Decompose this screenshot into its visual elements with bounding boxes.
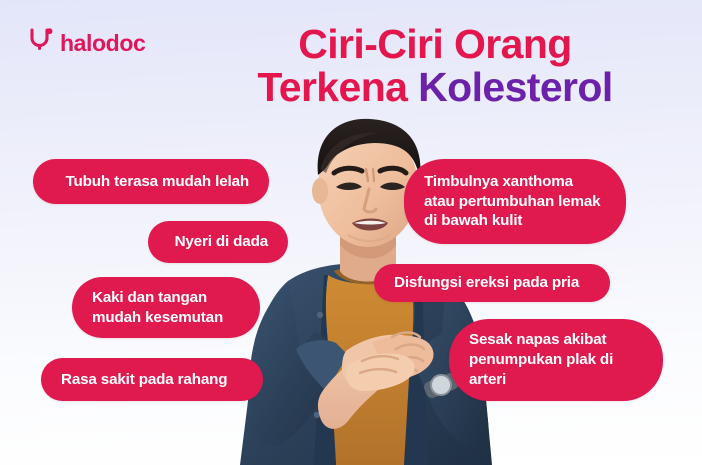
title-line-2-part-2: Kolesterol — [418, 64, 613, 110]
symptom-pill-kaki-dan-tangan-mudah-kesemutan: Kaki dan tangan mudah kesemutan — [72, 277, 260, 338]
infographic-canvas: halodoc Ciri-Ciri Orang Terkena Kolester… — [0, 0, 702, 465]
halodoc-logo: halodoc — [28, 26, 145, 60]
symptom-pill-disfungsi-ereksi-pada-pria: Disfungsi ereksi pada pria — [374, 264, 610, 302]
symptom-pill-rasa-sakit-pada-rahang: Rasa sakit pada rahang — [41, 358, 263, 401]
symptom-pill-sesak-napas-akibat-penumpukan-plak-di-arteri: Sesak napas akibat penumpukan plak di ar… — [449, 319, 663, 401]
symptom-pill-tubuh-terasa-mudah-lelah: Tubuh terasa mudah lelah — [33, 159, 269, 204]
brand-wordmark: halodoc — [60, 32, 145, 55]
title-line-2: Terkena Kolesterol — [180, 67, 690, 107]
symptom-pill-timbulnya-xanthoma: Timbulnya xanthoma atau pertumbuhan lema… — [404, 159, 626, 244]
symptom-pill-nyeri-di-dada: Nyeri di dada — [148, 221, 288, 263]
title-line-2-part-1: Terkena — [257, 64, 418, 110]
title-line-1: Ciri-Ciri Orang — [180, 24, 690, 64]
page-title: Ciri-Ciri Orang Terkena Kolesterol — [180, 24, 690, 107]
stethoscope-icon — [28, 28, 54, 58]
